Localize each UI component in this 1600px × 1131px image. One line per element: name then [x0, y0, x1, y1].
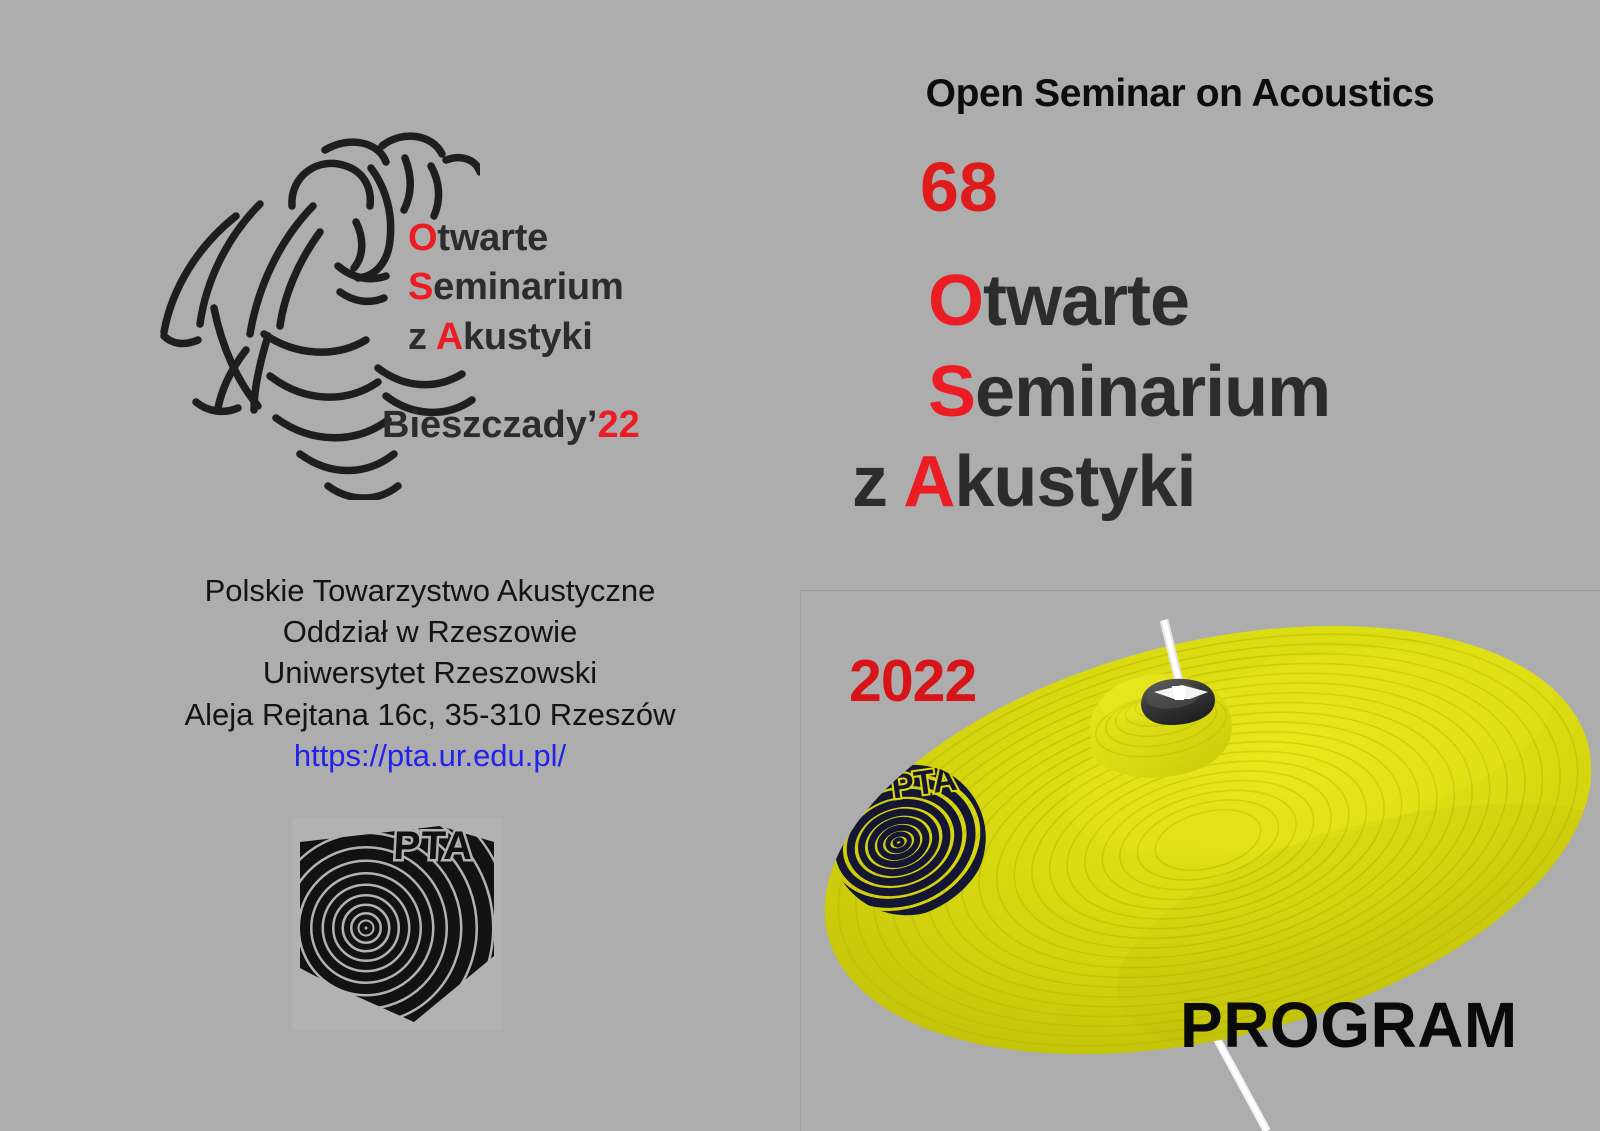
main-rest-twarte: twarte [983, 261, 1189, 341]
tagline-year: 22 [597, 404, 639, 446]
osa-rest-kustyki: kustyki [463, 316, 593, 358]
pta-wordmark: PTA [392, 824, 474, 868]
main-hl-s: S [928, 352, 975, 432]
address-line-university: Uniwersytet Rzeszowski [55, 652, 805, 693]
svg-text:PTA: PTA [392, 824, 474, 868]
osa-hl-a: A [436, 316, 463, 358]
main-hl-o: O [928, 261, 983, 341]
main-title-line-seminarium: Seminarium [852, 347, 1552, 438]
main-pre-z: z [852, 442, 903, 522]
osa-pre-z: z [408, 316, 436, 358]
main-title-block: Otwarte Seminarium z Akustyki [852, 256, 1552, 528]
address-line-street: Aleja Rejtana 16c, 35-310 Rzeszów [55, 694, 805, 735]
osa-word-z-akustyki: z Akustyki [408, 313, 728, 362]
edition-number: 68 [920, 152, 998, 222]
osa-rest-eminarium: eminarium [433, 266, 623, 308]
osa-tagline-bieszczady: Bieszczady’22 [382, 404, 640, 447]
address-line-society: Polskie Towarzystwo Akustyczne [55, 570, 805, 611]
pta-concentric-rings-logo: PTA [292, 818, 502, 1030]
osa-hl-o: O [408, 217, 437, 259]
osa-hl-s: S [408, 266, 433, 308]
english-seminar-title: Open Seminar on Acoustics [830, 72, 1530, 116]
pta-website-link[interactable]: https://pta.ur.edu.pl/ [55, 735, 805, 776]
program-label: PROGRAM [1180, 993, 1518, 1057]
year-label: 2022 [849, 652, 976, 711]
osa-word-otwarte: Otwarte [408, 214, 728, 263]
main-rest-eminarium: eminarium [975, 352, 1330, 432]
main-title-line-otwarte: Otwarte [852, 256, 1552, 347]
poster-page: Otwarte Seminarium z Akustyki Bieszczady… [0, 0, 1600, 1131]
osa-word-seminarium: Seminarium [408, 263, 728, 312]
main-rest-kustyki: kustyki [954, 442, 1195, 522]
osa-logo-block: Otwarte Seminarium z Akustyki Bieszczady… [150, 110, 720, 500]
osa-acronym-words: Otwarte Seminarium z Akustyki [408, 214, 728, 362]
tagline-place: Bieszczady’ [382, 404, 597, 446]
main-hl-a: A [903, 442, 954, 522]
address-line-branch: Oddział w Rzeszowie [55, 611, 805, 652]
osa-rest-twarte: twarte [437, 217, 548, 259]
main-title-line-z-akustyki: z Akustyki [852, 437, 1552, 528]
organizer-address-block: Polskie Towarzystwo Akustyczne Oddział w… [55, 570, 805, 776]
